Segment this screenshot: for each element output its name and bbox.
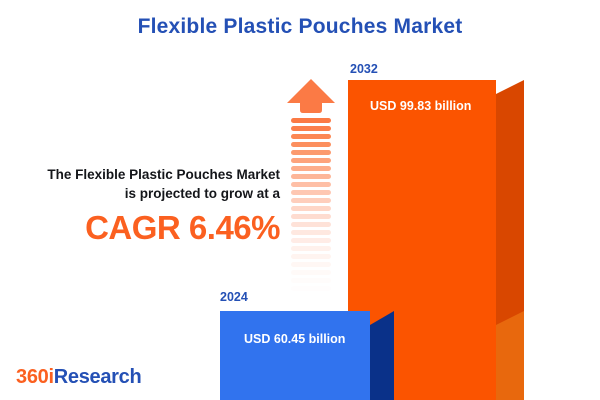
arrow-stripe: [291, 278, 331, 283]
infographic-canvas: Flexible Plastic Pouches Market The Flex…: [0, 0, 600, 400]
arrow-stripe: [291, 222, 331, 227]
arrow-stripe: [291, 286, 331, 291]
arrow-stripe: [291, 126, 331, 131]
bar-2024-year-label: 2024: [220, 290, 248, 304]
arrow-stripe: [291, 190, 331, 195]
bar-2024-value-label: USD 60.45 billion: [244, 332, 345, 346]
arrow-stripe: [291, 174, 331, 179]
arrow-stripe: [291, 230, 331, 235]
brand-logo[interactable]: 360iResearch: [16, 366, 141, 389]
brand-logo-suffix: Research: [54, 366, 142, 388]
caption-block: The Flexible Plastic Pouches Market is p…: [8, 165, 280, 247]
arrow-stripe: [291, 238, 331, 243]
arrow-stripe: [291, 150, 331, 155]
arrow-stripe: [291, 214, 331, 219]
up-arrow-head-icon: [286, 78, 336, 114]
arrow-stripe: [291, 182, 331, 187]
bar-2024-front-face: [220, 311, 370, 400]
bar-2032-year-label: 2032: [350, 62, 378, 76]
bar-2032-side-face-lower: [496, 311, 524, 400]
arrow-stripe: [291, 198, 331, 203]
arrow-stripe: [291, 254, 331, 259]
up-arrow-icon: [286, 78, 336, 293]
bar-2032-value-label: USD 99.83 billion: [370, 99, 471, 113]
page-title: Flexible Plastic Pouches Market: [0, 15, 600, 39]
arrow-stripe: [291, 134, 331, 139]
arrow-stripe: [291, 262, 331, 267]
caption-line-1: The Flexible Plastic Pouches Market: [8, 165, 280, 184]
brand-logo-prefix: 360i: [16, 366, 54, 388]
bar-2024-side-face: [370, 311, 394, 400]
bar-2024[interactable]: 2024 USD 60.45 billion: [220, 311, 394, 400]
arrow-stripe: [291, 246, 331, 251]
arrow-stripe: [291, 158, 331, 163]
arrow-stripe: [291, 206, 331, 211]
arrow-stripe: [291, 142, 331, 147]
cagr-value: CAGR 6.46%: [8, 209, 280, 247]
caption-line-2: is projected to grow at a: [8, 184, 280, 203]
arrow-stripe: [291, 166, 331, 171]
arrow-stripe: [291, 270, 331, 275]
arrow-stripe: [291, 118, 331, 123]
